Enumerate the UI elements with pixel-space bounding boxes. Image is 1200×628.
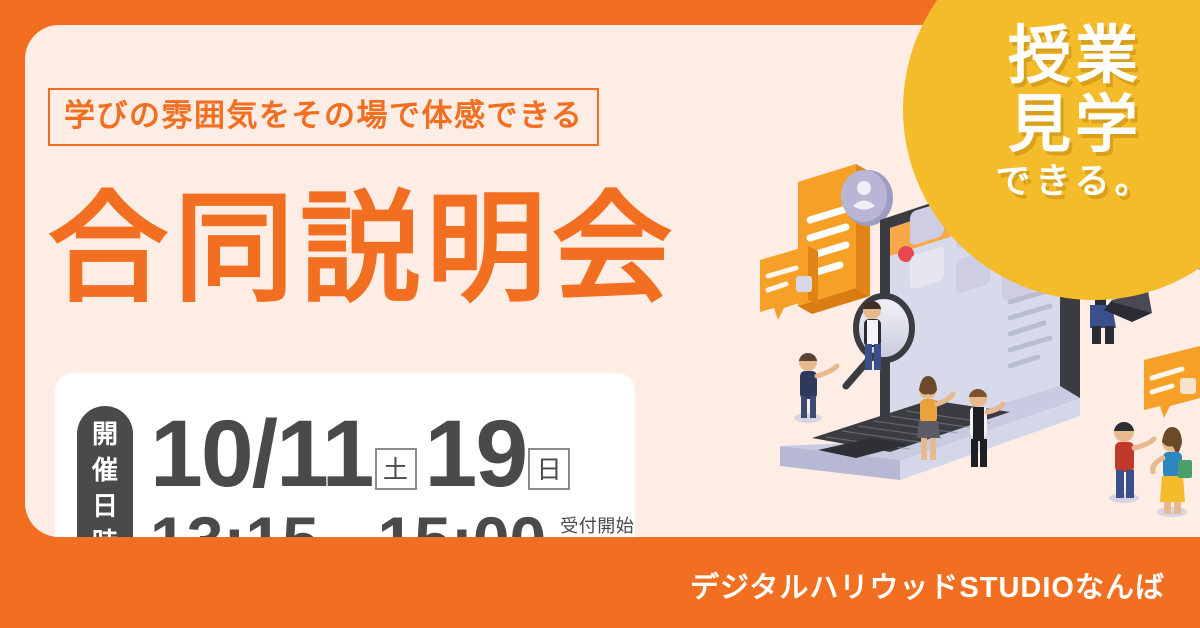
dow-primary: 土 — [375, 448, 417, 490]
dow-secondary: 日 — [528, 448, 570, 490]
schedule-date-row: 10/11 土 19 日 — [150, 402, 578, 502]
studio-name: デジタルハリウッドSTUDIOなんば — [690, 564, 1165, 606]
speech-bubble-icon — [1144, 346, 1200, 418]
person-figure — [863, 301, 881, 370]
reception-label: 受付開始 — [560, 516, 634, 536]
page-title: 合同説明会 — [48, 183, 678, 315]
schedule-label-char-2: 催 — [92, 452, 118, 488]
person-figure — [794, 353, 837, 423]
person-figure — [1153, 427, 1192, 517]
badge-line-2: 見学 — [975, 90, 1175, 160]
schedule-label-char-1: 開 — [92, 416, 118, 452]
tagline-box: 学びの雰囲気をその場で体感できる — [48, 88, 599, 146]
date-primary: 10/11 — [150, 406, 373, 502]
tagline-text: 学びの雰囲気をその場で体感できる — [64, 99, 583, 133]
person-figure — [1109, 422, 1154, 503]
event-banner: 授業 見学 できる。 学びの雰囲気をその場で体感できる 合同説明会 開 催 日 … — [0, 0, 1200, 628]
badge-line-1: 授業 — [975, 22, 1175, 90]
badge-line-3: できる。 — [975, 160, 1175, 204]
date-secondary: 19 — [425, 406, 527, 502]
left-orange-rail — [0, 0, 25, 628]
badge-text-group: 授業 見学 できる。 — [975, 22, 1175, 204]
schedule-label-char-3: 日 — [92, 488, 118, 524]
